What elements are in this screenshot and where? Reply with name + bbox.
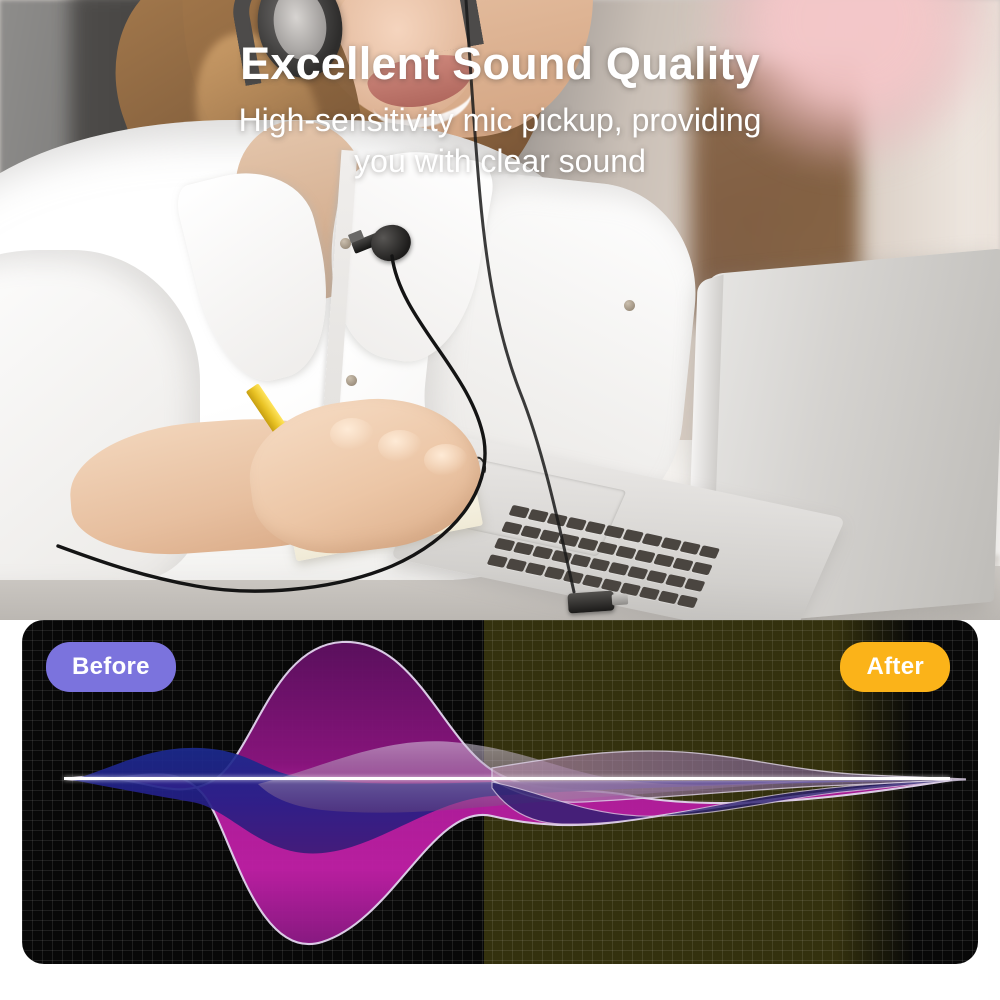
- laptop-key: [665, 574, 686, 588]
- laptop-key: [525, 562, 546, 576]
- laptop-key: [570, 554, 591, 568]
- page-title: Excellent Sound Quality: [0, 38, 1000, 90]
- laptop-key: [672, 558, 693, 572]
- laptop-key: [634, 550, 655, 564]
- laptop-key: [577, 537, 598, 551]
- badge-before[interactable]: Before: [46, 642, 176, 692]
- laptop-key: [487, 554, 508, 568]
- laptop-key: [646, 570, 667, 584]
- shirt-button: [346, 375, 357, 386]
- laptop-key: [585, 521, 606, 535]
- laptop-key: [509, 505, 530, 519]
- laptop-key: [677, 595, 698, 609]
- laptop-key: [520, 525, 541, 539]
- laptop-key: [501, 521, 522, 535]
- knuckle-highlight: [330, 418, 374, 450]
- laptop-key: [596, 542, 617, 556]
- laptop-key: [623, 529, 644, 543]
- laptop-key: [563, 570, 584, 584]
- laptop-key: [589, 558, 610, 572]
- page-subtitle: High-sensitivity mic pickup, providing y…: [0, 100, 1000, 182]
- laptop-key: [551, 550, 572, 564]
- laptop-key: [615, 546, 636, 560]
- laptop-key: [604, 525, 625, 539]
- laptop-key: [532, 546, 553, 560]
- laptop-key: [608, 562, 629, 576]
- knuckle-highlight: [378, 430, 422, 462]
- laptop-key: [691, 562, 712, 576]
- laptop-key: [653, 554, 674, 568]
- laptop-key: [513, 542, 534, 556]
- laptop-key: [639, 587, 660, 601]
- usb-connector-icon: [567, 590, 614, 613]
- hero-photo: Excellent Sound Quality High-sensitivity…: [0, 0, 1000, 620]
- badge-after[interactable]: After: [840, 642, 950, 692]
- laptop-key: [642, 533, 663, 547]
- laptop-key: [539, 529, 560, 543]
- laptop-key: [544, 566, 565, 580]
- laptop-key: [566, 517, 587, 531]
- laptop-key: [658, 591, 679, 605]
- before-after-waveform-panel: Before After: [22, 620, 978, 964]
- laptop-key: [661, 537, 682, 551]
- waveform-center-axis: [64, 777, 950, 780]
- laptop-key: [547, 513, 568, 527]
- laptop-key: [494, 538, 515, 552]
- laptop-key: [528, 509, 549, 523]
- laptop-key: [506, 558, 527, 572]
- product-marketing-image: Excellent Sound Quality High-sensitivity…: [0, 0, 1000, 1000]
- laptop-key: [684, 578, 705, 592]
- laptop-key: [558, 533, 579, 547]
- shirt-cuff-button: [624, 300, 635, 311]
- laptop-key: [627, 566, 648, 580]
- laptop-key: [699, 545, 720, 559]
- subtitle-line-1: High-sensitivity mic pickup, providing: [0, 100, 1000, 141]
- subtitle-line-2: you with clear sound: [0, 141, 1000, 182]
- knuckle-highlight: [424, 444, 468, 476]
- laptop-key: [582, 574, 603, 588]
- headline-block: Excellent Sound Quality High-sensitivity…: [0, 38, 1000, 182]
- laptop-key: [680, 541, 701, 555]
